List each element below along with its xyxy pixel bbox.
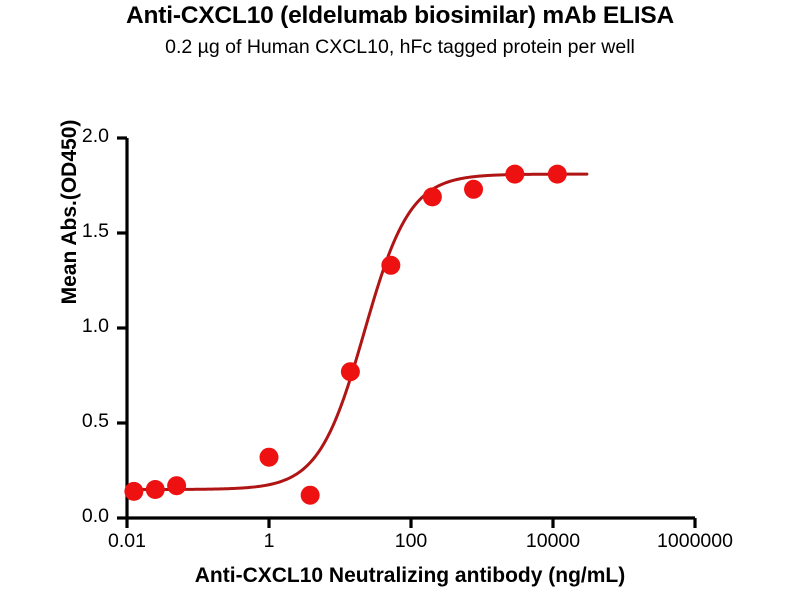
y-tick-label: 2.0	[0, 125, 109, 148]
data-point	[260, 448, 279, 467]
x-tick-label: 0.01	[47, 530, 207, 553]
data-point	[464, 180, 483, 199]
fit-curve	[128, 174, 586, 489]
y-tick-label: 0.5	[0, 410, 109, 433]
fit-curve-line	[128, 174, 586, 489]
x-axis-label: Anti-CXCL10 Neutralizing antibody (ng/mL…	[60, 564, 760, 588]
data-point	[167, 476, 186, 495]
y-tick-label: 1.5	[0, 220, 109, 243]
axes	[127, 138, 695, 518]
data-point	[423, 187, 442, 206]
y-axis-label: Mean Abs.(OD450)	[58, 82, 82, 342]
data-point	[301, 486, 320, 505]
data-point	[341, 362, 360, 381]
data-point	[548, 165, 567, 184]
axis-ticks	[117, 138, 695, 528]
data-point	[505, 165, 524, 184]
data-point	[146, 480, 165, 499]
data-points	[124, 165, 566, 505]
x-tick-label: 100	[331, 530, 491, 553]
x-tick-label: 1	[189, 530, 349, 553]
x-tick-label: 1000000	[615, 530, 775, 553]
x-tick-label: 10000	[473, 530, 633, 553]
data-point	[124, 482, 143, 501]
chart-figure: Anti-CXCL10 (eldelumab biosimilar) mAb E…	[0, 0, 800, 600]
data-point	[381, 256, 400, 275]
plot-area	[0, 0, 800, 600]
y-tick-label: 1.0	[0, 315, 109, 338]
y-tick-label: 0.0	[0, 505, 109, 528]
